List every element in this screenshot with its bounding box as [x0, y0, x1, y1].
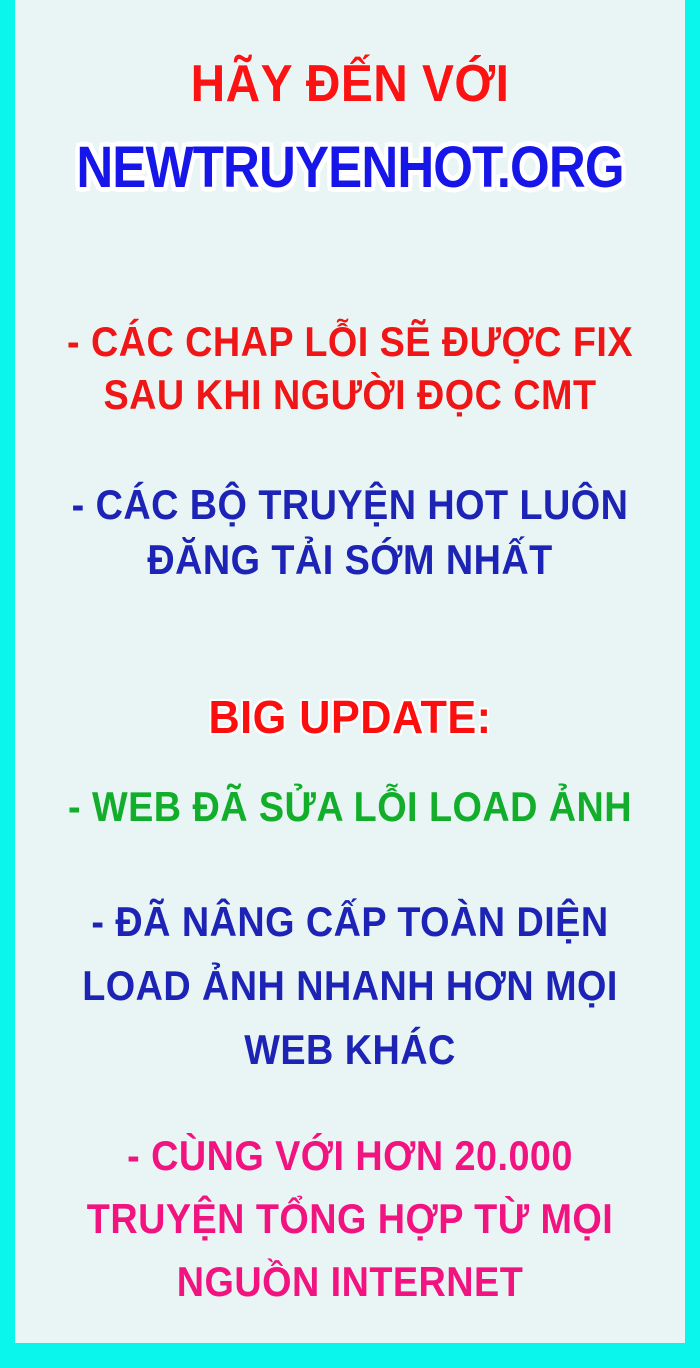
library-size-note-line-3: NGUỒN INTERNET — [49, 1250, 652, 1313]
site-url-text[interactable]: NEWTRUYENHOT.ORG — [55, 138, 645, 197]
upgrade-note-line-2: LOAD ẢNH NHANH HƠN MỌI — [49, 954, 652, 1018]
promo-banner: HÃY ĐẾN VỚI NEWTRUYENHOT.ORG - CÁC CHAP … — [0, 0, 700, 1368]
promo-panel: HÃY ĐẾN VỚI NEWTRUYENHOT.ORG - CÁC CHAP … — [15, 0, 685, 1343]
site-url-block[interactable]: NEWTRUYENHOT.ORG — [15, 138, 685, 197]
chap-fix-note-line-1: - CÁC CHAP LỖI SẼ ĐƯỢC FIX — [49, 316, 652, 369]
hot-series-note-line-2: ĐĂNG TẢI SỚM NHẤT — [49, 533, 652, 588]
headline-text: HÃY ĐẾN VỚI — [42, 58, 658, 111]
hot-series-note: - CÁC BỘ TRUYỆN HOT LUÔN ĐĂNG TẢI SỚM NH… — [15, 478, 685, 587]
image-load-fix-note: - WEB ĐÃ SỬA LỖI LOAD ẢNH — [15, 786, 685, 829]
library-size-note-line-2: TRUYỆN TỔNG HỢP TỪ MỌI — [49, 1187, 652, 1250]
chap-fix-note-line-2: SAU KHI NGƯỜI ĐỌC CMT — [49, 369, 652, 422]
library-size-note: - CÙNG VỚI HƠN 20.000 TRUYỆN TỔNG HỢP TỪ… — [15, 1124, 685, 1313]
upgrade-note: - ĐÃ NÂNG CẤP TOÀN DIỆN LOAD ẢNH NHANH H… — [15, 890, 685, 1081]
image-load-fix-note-line-1: - WEB ĐÃ SỬA LỖI LOAD ẢNH — [49, 786, 652, 829]
hot-series-note-line-1: - CÁC BỘ TRUYỆN HOT LUÔN — [49, 478, 652, 533]
headline-block: HÃY ĐẾN VỚI — [15, 58, 685, 111]
library-size-note-line-1: - CÙNG VỚI HƠN 20.000 — [49, 1124, 652, 1187]
big-update-heading-text: BIG UPDATE: — [35, 694, 665, 741]
chap-fix-note: - CÁC CHAP LỖI SẼ ĐƯỢC FIX SAU KHI NGƯỜI… — [15, 316, 685, 421]
upgrade-note-line-3: WEB KHÁC — [49, 1018, 652, 1082]
upgrade-note-line-1: - ĐÃ NÂNG CẤP TOÀN DIỆN — [49, 890, 652, 954]
big-update-heading: BIG UPDATE: — [15, 694, 685, 741]
